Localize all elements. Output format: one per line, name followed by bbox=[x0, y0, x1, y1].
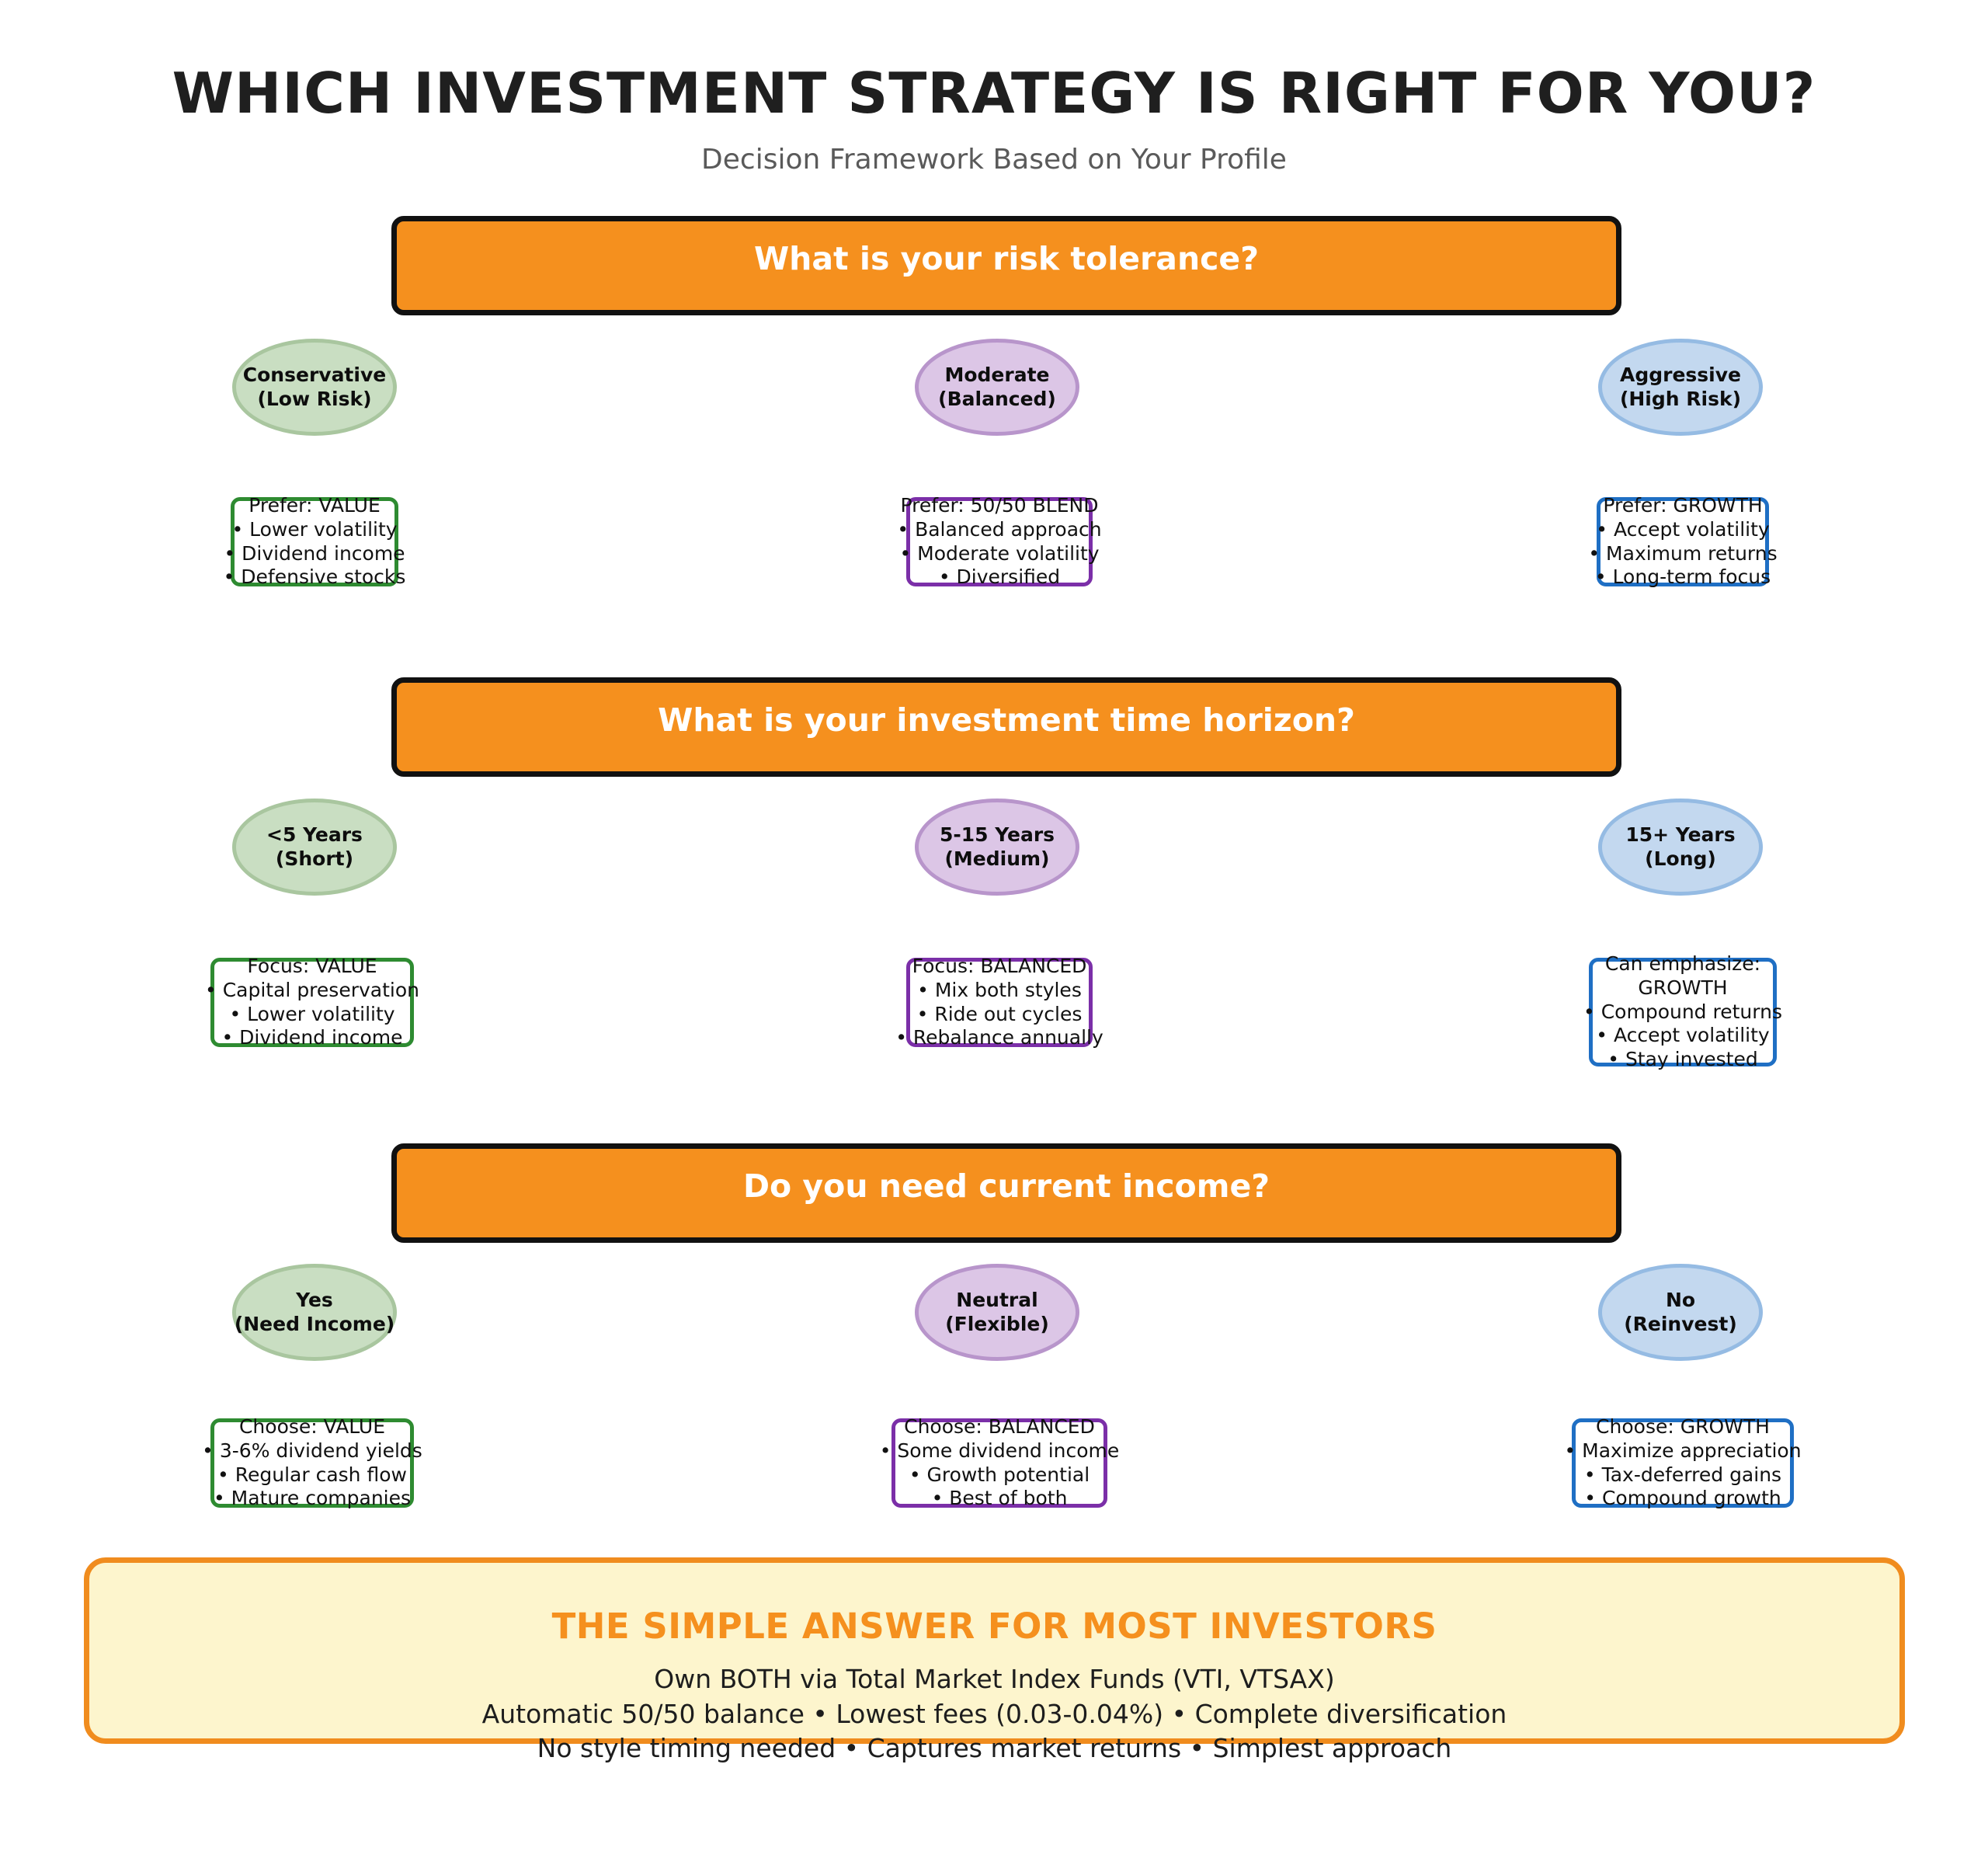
question-bar-label: What is your investment time horizon? bbox=[658, 701, 1355, 739]
detail-line: Can emphasize: bbox=[1605, 952, 1760, 976]
question-bar-current-income: Do you need current income? bbox=[391, 1143, 1621, 1243]
summary-line: No style timing needed • Captures market… bbox=[89, 1731, 1899, 1766]
detail-line: • Maximize appreciation bbox=[1564, 1439, 1801, 1463]
page-subtitle: Decision Framework Based on Your Profile bbox=[0, 144, 1988, 176]
question-bar-risk-tolerance: What is your risk tolerance? bbox=[391, 216, 1621, 315]
detail-box-short-horizon: Focus: VALUE • Capital preservation • Lo… bbox=[210, 958, 414, 1047]
detail-box-conservative: Prefer: VALUE • Lower volatility • Divid… bbox=[231, 497, 398, 586]
option-ellipse-label: Aggressive(High Risk) bbox=[1620, 364, 1741, 411]
page-title: WHICH INVESTMENT STRATEGY IS RIGHT FOR Y… bbox=[0, 61, 1988, 126]
detail-line: • Compound returns bbox=[1583, 1000, 1782, 1025]
question-bar-label: What is your risk tolerance? bbox=[754, 240, 1259, 277]
detail-line: • Accept volatility bbox=[1596, 1024, 1769, 1048]
option-ellipse-moderate[interactable]: Moderate(Balanced) bbox=[915, 339, 1079, 436]
option-ellipse-aggressive[interactable]: Aggressive(High Risk) bbox=[1598, 339, 1763, 436]
option-ellipse-label: Moderate(Balanced) bbox=[938, 364, 1056, 411]
summary-title: THE SIMPLE ANSWER FOR MOST INVESTORS bbox=[89, 1606, 1899, 1647]
option-ellipse-label: 5-15 Years(Medium) bbox=[940, 823, 1055, 871]
detail-line: • Ride out cycles bbox=[917, 1003, 1083, 1027]
detail-line: • Growth potential bbox=[909, 1463, 1090, 1488]
option-ellipse-need-income[interactable]: Yes(Need Income) bbox=[232, 1264, 397, 1361]
option-ellipse-long-horizon[interactable]: 15+ Years(Long) bbox=[1598, 799, 1763, 896]
detail-line: • Maximum returns bbox=[1588, 542, 1777, 566]
detail-line: • Accept volatility bbox=[1596, 518, 1769, 542]
detail-line: • Best of both bbox=[932, 1487, 1068, 1511]
detail-line: • Long-term focus bbox=[1595, 565, 1771, 590]
infographic-canvas: WHICH INVESTMENT STRATEGY IS RIGHT FOR Y… bbox=[0, 0, 1988, 1872]
question-bar-time-horizon: What is your investment time horizon? bbox=[391, 677, 1621, 777]
detail-line: • Mature companies bbox=[214, 1487, 411, 1511]
detail-box-moderate: Prefer: 50/50 BLEND • Balanced approach … bbox=[906, 497, 1093, 586]
question-bar-label: Do you need current income? bbox=[743, 1167, 1270, 1205]
detail-line: • 3-6% dividend yields bbox=[202, 1439, 422, 1463]
detail-line: • Regular cash flow bbox=[217, 1463, 407, 1488]
detail-line: • Lower volatility bbox=[229, 1003, 394, 1027]
detail-box-neutral-income: Choose: BALANCED • Some dividend income … bbox=[891, 1418, 1107, 1508]
detail-line: • Stay invested bbox=[1607, 1048, 1757, 1072]
option-ellipse-medium-horizon[interactable]: 5-15 Years(Medium) bbox=[915, 799, 1079, 896]
summary-panel: THE SIMPLE ANSWER FOR MOST INVESTORS Own… bbox=[84, 1557, 1905, 1744]
option-ellipse-conservative[interactable]: Conservative(Low Risk) bbox=[232, 339, 397, 436]
detail-line: • Defensive stocks bbox=[224, 565, 406, 590]
option-ellipse-label: Conservative(Low Risk) bbox=[243, 364, 386, 411]
summary-line: Own BOTH via Total Market Index Funds (V… bbox=[89, 1662, 1899, 1697]
detail-line: • Mix both styles bbox=[917, 979, 1082, 1003]
detail-box-medium-horizon: Focus: BALANCED • Mix both styles • Ride… bbox=[906, 958, 1093, 1047]
detail-box-no-income: Choose: GROWTH • Maximize appreciation •… bbox=[1572, 1418, 1794, 1508]
detail-line: • Some dividend income bbox=[880, 1439, 1120, 1463]
detail-line: Choose: BALANCED bbox=[904, 1415, 1095, 1439]
detail-box-long-horizon: Can emphasize: GROWTH • Compound returns… bbox=[1589, 958, 1777, 1066]
detail-line: GROWTH bbox=[1638, 976, 1727, 1000]
option-ellipse-short-horizon[interactable]: <5 Years(Short) bbox=[232, 799, 397, 896]
detail-line: Prefer: VALUE bbox=[248, 494, 381, 518]
detail-line: Choose: VALUE bbox=[239, 1415, 385, 1439]
detail-line: • Compound growth bbox=[1584, 1487, 1781, 1511]
detail-line: • Balanced approach bbox=[897, 518, 1101, 542]
option-ellipse-label: <5 Years(Short) bbox=[266, 823, 363, 871]
detail-line: • Moderate volatility bbox=[899, 542, 1099, 566]
detail-line: Focus: BALANCED bbox=[912, 955, 1087, 979]
detail-line: • Dividend income bbox=[221, 1026, 402, 1050]
detail-box-aggressive: Prefer: GROWTH • Accept volatility • Max… bbox=[1597, 497, 1769, 586]
detail-line: Choose: GROWTH bbox=[1596, 1415, 1770, 1439]
option-ellipse-no-income[interactable]: No(Reinvest) bbox=[1598, 1264, 1763, 1361]
detail-line: • Tax-deferred gains bbox=[1584, 1463, 1781, 1488]
summary-line: Automatic 50/50 balance • Lowest fees (0… bbox=[89, 1697, 1899, 1732]
detail-line: • Dividend income bbox=[224, 542, 405, 566]
option-ellipse-neutral-income[interactable]: Neutral(Flexible) bbox=[915, 1264, 1079, 1361]
detail-line: Prefer: GROWTH bbox=[1603, 494, 1762, 518]
option-ellipse-label: 15+ Years(Long) bbox=[1625, 823, 1735, 871]
detail-line: • Capital preservation bbox=[205, 979, 419, 1003]
option-ellipse-label: Neutral(Flexible) bbox=[945, 1289, 1049, 1336]
detail-line: • Rebalance annually bbox=[895, 1026, 1103, 1050]
detail-line: Prefer: 50/50 BLEND bbox=[901, 494, 1099, 518]
detail-line: Focus: VALUE bbox=[247, 955, 377, 979]
option-ellipse-label: No(Reinvest) bbox=[1624, 1289, 1737, 1336]
detail-box-need-income: Choose: VALUE • 3-6% dividend yields • R… bbox=[210, 1418, 414, 1508]
summary-body: Own BOTH via Total Market Index Funds (V… bbox=[89, 1662, 1899, 1766]
detail-line: • Diversified bbox=[939, 565, 1060, 590]
detail-line: • Lower volatility bbox=[231, 518, 397, 542]
option-ellipse-label: Yes(Need Income) bbox=[235, 1289, 394, 1336]
